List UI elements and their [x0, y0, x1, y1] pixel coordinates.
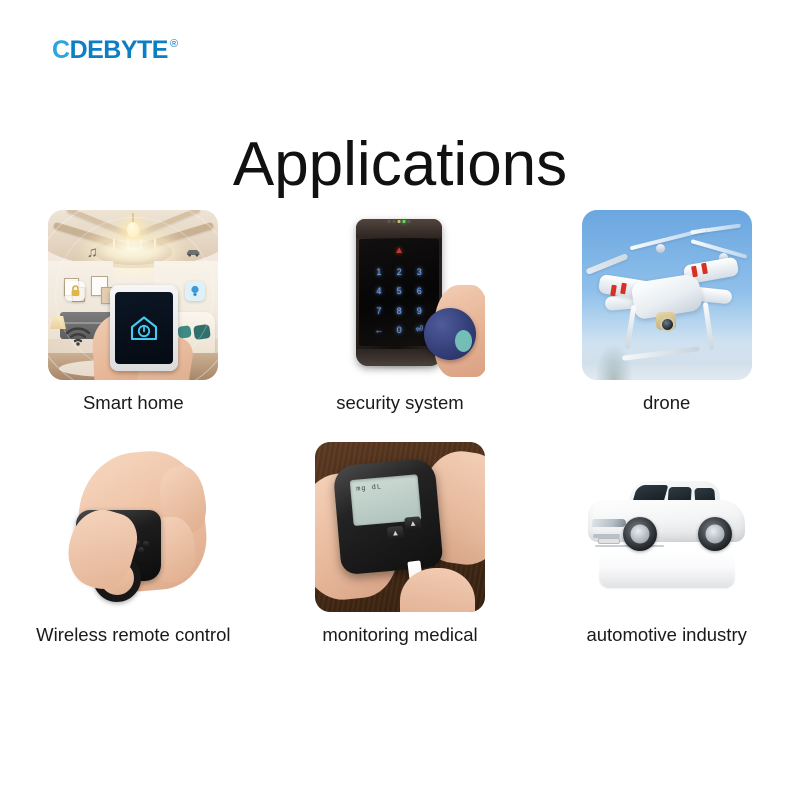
lock-icon [65, 281, 85, 301]
led [393, 220, 396, 223]
wifi-glyph [65, 326, 91, 346]
keypad-key-5[interactable]: 5 [397, 286, 402, 296]
keypad-key-8[interactable]: 8 [397, 306, 402, 316]
alarm-bell-icon: ▲ [394, 246, 404, 256]
music-note-icon: ♫ [82, 242, 102, 262]
lock-glyph [70, 285, 81, 297]
motor-hub [656, 244, 665, 253]
page-title: Applications [0, 134, 800, 196]
brand-logo: C DEBYTE ® [52, 38, 178, 63]
red-stripe [610, 284, 617, 296]
keypad-key-7[interactable]: 7 [376, 306, 381, 316]
home-glyph [128, 314, 160, 342]
drone-image [582, 210, 752, 380]
keypad-key-9[interactable]: 9 [417, 306, 422, 316]
application-label-drone: drone [643, 392, 690, 414]
application-label-smart-home: Smart home [83, 392, 184, 414]
controller-button [143, 541, 149, 547]
smart-home-image: ♫ [48, 210, 218, 380]
brand-logo-letter-c: C [52, 38, 70, 63]
license-plate [598, 538, 620, 544]
rear-wheel [698, 517, 732, 551]
wifi-icon [65, 326, 91, 346]
meter-down-button[interactable]: ▲ [387, 526, 404, 541]
application-card-security-system: ▲ 1 2 3 4 5 6 7 8 9 ← 0 ⏎ [267, 210, 534, 442]
keypad-key-enter[interactable]: ⏎ [416, 324, 424, 335]
light-bulb-icon [185, 281, 205, 301]
registered-trademark-icon: ® [170, 39, 178, 50]
application-label-wireless-remote-control: Wireless remote control [36, 624, 230, 646]
led-active [403, 220, 406, 223]
rfid-access-card [424, 308, 476, 360]
security-system-image: ▲ 1 2 3 4 5 6 7 8 9 ← 0 ⏎ [315, 210, 485, 380]
car-icon [183, 242, 203, 262]
keypad-key-1[interactable]: 1 [376, 267, 381, 277]
white-sedan-car [588, 479, 744, 554]
application-card-drone: drone [533, 210, 800, 442]
status-led-strip [388, 220, 411, 223]
panel-bottom-bezel [356, 349, 443, 367]
keypad-key-4[interactable]: 4 [376, 286, 381, 296]
application-card-automotive-industry: automotive industry [533, 442, 800, 674]
monitoring-medical-image: mg dL ▲ ▲ [315, 442, 485, 612]
bulb-glyph [190, 285, 200, 297]
keypad-key-6[interactable]: 6 [417, 286, 422, 296]
led [408, 220, 411, 223]
car-floor-reflection [599, 551, 735, 588]
headlight [591, 519, 627, 527]
brand-logo-text: DEBYTE [70, 38, 168, 63]
keypad-key-3[interactable]: 3 [417, 267, 422, 277]
car-glyph [186, 248, 201, 257]
led [388, 220, 391, 223]
led [398, 220, 401, 223]
camera-lens [662, 319, 673, 330]
keypad-keys[interactable]: 1 2 3 4 5 6 7 8 9 ← 0 ⏎ [369, 263, 430, 340]
panel-top-bezel [356, 219, 443, 238]
application-card-wireless-remote-control: . . Wireless remote control [0, 442, 267, 674]
keypad-key-0[interactable]: 0 [397, 325, 402, 335]
application-card-monitoring-medical: mg dL ▲ ▲ monitoring medical [267, 442, 534, 674]
keypad-key-back[interactable]: ← [374, 325, 383, 335]
application-card-smart-home: ♫ [0, 210, 267, 442]
keypad-key-2[interactable]: 2 [397, 267, 402, 277]
meter-display-value: mg dL [356, 483, 383, 493]
propeller-blade [586, 253, 629, 275]
application-label-security-system: security system [336, 392, 463, 414]
meter-up-button[interactable]: ▲ [405, 516, 422, 531]
front-wheel [623, 517, 657, 551]
smartphone [110, 285, 178, 371]
glucose-meter-device: mg dL ▲ ▲ [333, 458, 444, 575]
controller-button [138, 547, 144, 553]
phone-screen [115, 292, 173, 364]
wireless-remote-control-image: . . [48, 442, 218, 612]
smart-home-app-icon [128, 314, 160, 342]
applications-grid: ♫ [0, 210, 800, 674]
automotive-industry-image [582, 442, 752, 612]
application-label-monitoring-medical: monitoring medical [322, 624, 477, 646]
application-label-automotive-industry: automotive industry [586, 624, 746, 646]
